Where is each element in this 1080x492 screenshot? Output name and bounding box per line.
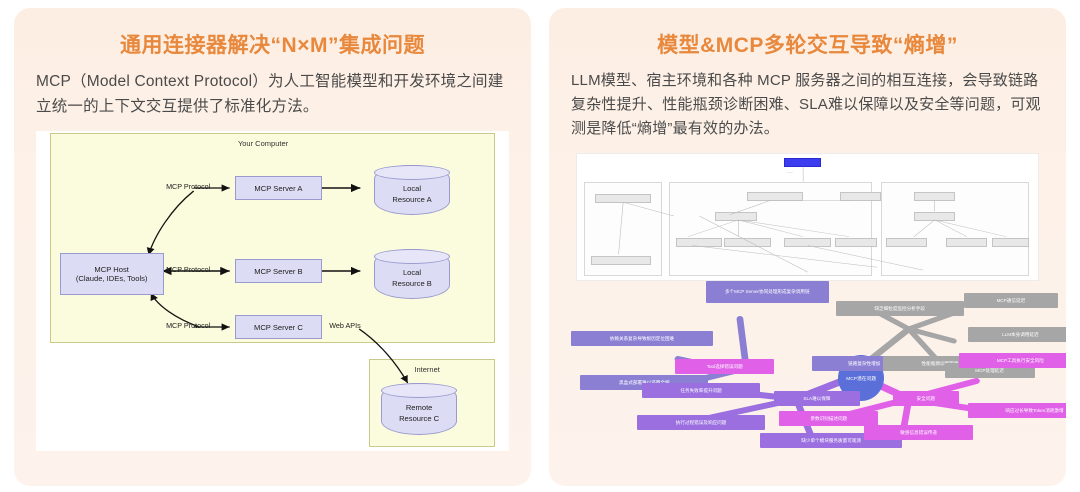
node-mcp-host-line1: MCP Host	[94, 265, 128, 274]
mindmap-node-multi-server-chain: 多个MCP Server协同处理形成复杂调用链	[706, 281, 829, 303]
topology-node-3c	[886, 238, 928, 247]
resource-remote-c-line1: Remote	[406, 402, 433, 413]
diagram-container-right: .......	[571, 153, 1044, 453]
mindmap-node-lack-fine-grained-monitoring: 缺乏细粒度监控分析手段	[836, 301, 964, 316]
node-mcp-host: MCP Host (Claude, IDEs, Tools)	[60, 253, 164, 295]
mindmap-node-llm-call-latency: LLM本身调用延迟	[968, 327, 1066, 342]
mindmap-node-sensitive-info-leak: 敏感信息错误传递	[864, 425, 973, 440]
edge-label-web-apis: Web APIs	[329, 321, 360, 330]
topology-node-2e	[724, 238, 770, 247]
topology-node-1a	[595, 194, 650, 203]
resource-local-b-line1: Local	[403, 267, 421, 278]
topology-root-node	[784, 158, 821, 167]
mindmap: MCP潜在问题 链路复杂性增加 多个MCP Server协同处理形成复杂调用链 …	[571, 271, 1044, 453]
card-mcp-connector: 通用连接器解决“N×M”集成问题 MCP（Model Context Proto…	[14, 8, 531, 486]
topology-node-2a	[747, 192, 802, 201]
mindmap-node-tool-selection-error: Tool选择错误问题	[675, 359, 774, 374]
topology-node-2d	[676, 238, 722, 247]
mindmap-node-task-failure-rate: 任务失败率提升问题	[642, 383, 760, 398]
mindmap-node-param-description: 参数识别描述问题	[779, 411, 878, 426]
mindmap-node-mcp-comm-latency: MCP通信延迟	[964, 293, 1059, 308]
mindmap-node-token-consumption: 响应过长导致Token消耗激增	[968, 403, 1066, 418]
mcp-architecture-diagram: Your Computer Internet	[36, 131, 509, 451]
topology-node-2f	[784, 238, 830, 247]
topology-node-2g	[835, 238, 877, 247]
internet-label: Internet	[414, 365, 439, 374]
topology-node-1b	[591, 256, 651, 265]
mindmap-node-tool-exec-risk: MCP工具执行安全风险	[959, 353, 1066, 368]
resource-local-a: Local Resource A	[374, 165, 450, 215]
resource-remote-c-line2: Resource C	[399, 413, 439, 424]
topology-node-2c	[715, 212, 757, 221]
topology-group-3	[881, 182, 1029, 276]
topology-node-3a	[914, 192, 956, 201]
resource-local-b-line2: Resource B	[392, 278, 432, 289]
node-mcp-server-b: MCP Server B	[235, 259, 323, 283]
mindmap-branch-security: 安全问题	[893, 391, 959, 406]
topology-node-3b	[914, 212, 956, 221]
node-mcp-server-a: MCP Server A	[235, 176, 323, 200]
mindmap-branch-sla: SLA难以保障	[774, 391, 859, 406]
page-title-right: 模型&MCP多轮交互导致“熵增”	[571, 34, 1044, 57]
resource-local-a-line1: Local	[403, 183, 421, 194]
topology-node-2b	[840, 192, 882, 201]
resource-local-a-line2: Resource A	[392, 194, 431, 205]
mindmap-node-dependency-rootcause: 依赖关系复杂导致根因定位困难	[571, 331, 713, 346]
diagram-container-left: Your Computer Internet	[36, 131, 509, 451]
card-mcp-entropy: 模型&MCP多轮交互导致“熵增” LLM模型、宿主环境和各种 MCP 服务器之间…	[549, 8, 1066, 486]
edge-label-mcp-protocol-a: MCP Protocol	[166, 182, 210, 191]
resource-remote-c: Remote Resource C	[381, 383, 457, 435]
mcp-observability-diagram: .......	[571, 153, 1044, 453]
node-mcp-host-line2: (Claude, IDEs, Tools)	[76, 274, 148, 283]
node-mcp-server-c: MCP Server C	[235, 315, 323, 339]
your-computer-label: Your Computer	[238, 139, 288, 148]
resource-local-b: Local Resource B	[374, 249, 450, 299]
topology-node-3d	[946, 238, 988, 247]
page-title: 通用连接器解决“N×M”集成问题	[36, 34, 509, 57]
topology-node-3e	[992, 238, 1029, 247]
card-description: MCP（Model Context Protocol）为人工智能模型和开发环境之…	[36, 69, 509, 119]
card-description-right: LLM模型、宿主环境和各种 MCP 服务器之间的相互连接，会导致链路复杂性提升、…	[571, 69, 1044, 141]
edge-label-mcp-protocol-b: MCP Protocol	[166, 265, 210, 274]
page-root: 通用连接器解决“N×M”集成问题 MCP（Model Context Proto…	[0, 0, 1080, 492]
mindmap-node-exec-error-response: 执行过程错误及响应问题	[637, 415, 765, 430]
edge-label-mcp-protocol-c: MCP Protocol	[166, 321, 210, 330]
topology-panel: .......	[576, 153, 1040, 281]
